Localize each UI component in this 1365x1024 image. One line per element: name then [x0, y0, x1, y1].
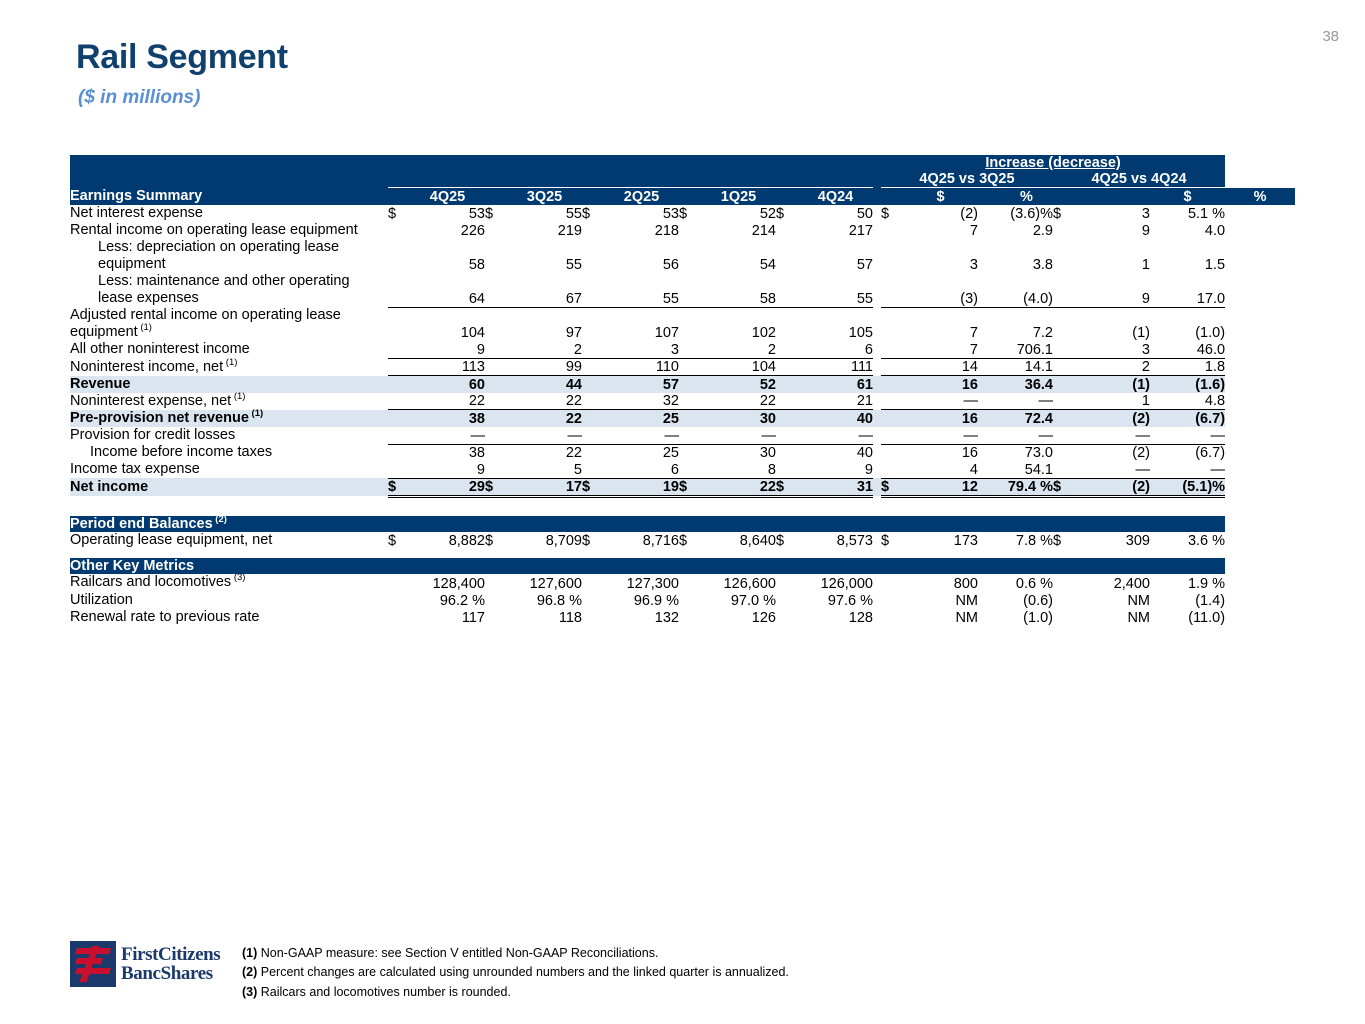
currency-symbol: [881, 461, 903, 478]
company-logo: FirstCitizens BancShares: [70, 941, 242, 987]
cell-change-percent: (5.1)%: [1150, 478, 1225, 496]
cell-value: 126,000: [798, 574, 873, 591]
currency-symbol: [776, 273, 798, 307]
cell-change-percent: 7.8 %: [978, 532, 1053, 549]
currency-symbol: [881, 393, 903, 410]
cell-change-dollar: —: [903, 427, 978, 444]
table-row: Operating lease equipment, net$8,882$8,7…: [70, 532, 1295, 549]
currency-symbol: [388, 393, 410, 410]
cell-change-dollar: NM: [1075, 592, 1150, 609]
currency-symbol: [679, 222, 701, 239]
row-label: Provision for credit losses: [70, 427, 388, 444]
cell-change-dollar: (2): [903, 205, 978, 222]
currency-symbol: [1053, 410, 1075, 427]
cell-change-dollar: 16: [903, 444, 978, 461]
column-gap: [873, 592, 881, 609]
currency-symbol: [485, 461, 507, 478]
currency-symbol: [881, 574, 903, 591]
currency-symbol: [679, 393, 701, 410]
row-label: Less: maintenance and other operating le…: [70, 273, 388, 307]
section-label: Period end Balances (2): [70, 516, 1225, 532]
cell-value: 96.9 %: [604, 592, 679, 609]
row-label: Less: depreciation on operating lease eq…: [70, 239, 388, 273]
row-label: Pre-provision net revenue (1): [70, 410, 388, 427]
section-spacer: [70, 496, 1295, 516]
column-gap: [873, 341, 881, 358]
currency-symbol: [679, 376, 701, 393]
currency-symbol: [582, 592, 604, 609]
cell-value: 52: [701, 376, 776, 393]
currency-symbol: $: [388, 532, 410, 549]
table-row: Railcars and locomotives (3)128,400127,6…: [70, 574, 1295, 591]
table-row: All other noninterest income923267706.13…: [70, 341, 1295, 358]
cell-change-percent: (6.7): [1150, 410, 1225, 427]
cell-value: —: [604, 427, 679, 444]
currency-symbol: [679, 239, 701, 273]
cell-value: 22: [507, 444, 582, 461]
currency-symbol: [881, 359, 903, 376]
cell-value: 99: [507, 359, 582, 376]
table-row: Net income$29$17$19$22$31$1279.4 %$(2)(5…: [70, 478, 1295, 496]
cell-value: 105: [798, 307, 873, 341]
table-row: Rental income on operating lease equipme…: [70, 222, 1295, 239]
rail-segment-table: Increase (decrease)4Q25 vs 3Q254Q25 vs 4…: [70, 155, 1295, 626]
cell-value: —: [507, 427, 582, 444]
row-label: Rental income on operating lease equipme…: [70, 222, 388, 239]
cell-value: 19: [604, 478, 679, 496]
cell-change-percent: (3.6)%: [978, 205, 1053, 222]
currency-symbol: $: [485, 478, 507, 496]
cell-value: 22: [507, 410, 582, 427]
cell-value: 21: [798, 393, 873, 410]
column-gap: [873, 359, 881, 376]
currency-symbol: [1053, 427, 1075, 444]
currency-symbol: $: [776, 532, 798, 549]
currency-symbol: [881, 592, 903, 609]
cell-change-dollar: 3: [903, 239, 978, 273]
cell-change-percent: 3.8: [978, 239, 1053, 273]
row-label: Noninterest income, net (1): [70, 359, 388, 376]
cell-change-percent: —: [978, 427, 1053, 444]
cell-value: 29: [410, 478, 485, 496]
column-gap: [873, 205, 881, 222]
column-header-1Q25: 1Q25: [701, 188, 776, 205]
cell-value: 96.2 %: [410, 592, 485, 609]
currency-symbol: [679, 574, 701, 591]
currency-symbol: [776, 239, 798, 273]
row-label: Income before income taxes: [70, 444, 388, 461]
currency-symbol: [582, 222, 604, 239]
cell-value: 226: [410, 222, 485, 239]
currency-symbol: [582, 410, 604, 427]
currency-symbol: [881, 341, 903, 358]
cell-value: 31: [798, 478, 873, 496]
currency-symbol: [1053, 239, 1075, 273]
cell-change-percent: 17.0: [1150, 273, 1225, 307]
cell-change-dollar: 3: [1075, 341, 1150, 358]
cell-change-percent: 4.0: [1150, 222, 1225, 239]
currency-symbol: $: [388, 478, 410, 496]
cell-value: 57: [604, 376, 679, 393]
currency-symbol: [881, 273, 903, 307]
cell-value: 30: [701, 410, 776, 427]
currency-symbol: $: [679, 478, 701, 496]
cell-value: 53: [604, 205, 679, 222]
period-end-balances-section: Period end Balances (2): [70, 516, 1295, 532]
column-gap: [873, 222, 881, 239]
currency-symbol: [776, 444, 798, 461]
cell-value: 52: [701, 205, 776, 222]
cell-change-percent: 2.9: [978, 222, 1053, 239]
currency-symbol: [485, 307, 507, 341]
cell-change-percent: 46.0: [1150, 341, 1225, 358]
cell-value: 61: [798, 376, 873, 393]
cell-change-dollar: 7: [903, 222, 978, 239]
cell-value: 8: [701, 461, 776, 478]
column-gap: [873, 188, 881, 205]
cell-value: 8,573: [798, 532, 873, 549]
currency-symbol: $: [881, 478, 903, 496]
header-rule: [881, 188, 903, 205]
header-rule: [1075, 188, 1150, 205]
cell-value: —: [701, 427, 776, 444]
currency-symbol: [485, 239, 507, 273]
cell-value: 9: [410, 461, 485, 478]
currency-symbol: [582, 341, 604, 358]
column-header-4Q24: 4Q24: [798, 188, 873, 205]
logo-line-1: FirstCitizens: [121, 945, 220, 964]
cell-change-percent: 1.5: [1150, 239, 1225, 273]
currency-symbol: [582, 427, 604, 444]
currency-symbol: [776, 427, 798, 444]
currency-symbol: [1053, 222, 1075, 239]
cell-value: 54: [701, 239, 776, 273]
currency-symbol: [485, 341, 507, 358]
currency-symbol: [881, 307, 903, 341]
currency-symbol: [679, 461, 701, 478]
column-header-change-2-dollar: $: [1150, 188, 1225, 205]
cell-value: 6: [798, 341, 873, 358]
change-group-2-header: 4Q25 vs 4Q24: [1053, 171, 1225, 188]
currency-symbol: [1053, 574, 1075, 591]
column-header-4Q25: 4Q25: [410, 188, 485, 205]
currency-symbol: [388, 239, 410, 273]
currency-symbol: [776, 341, 798, 358]
cell-value: 64: [410, 273, 485, 307]
cell-change-percent: 4.8: [1150, 393, 1225, 410]
cell-change-dollar: 309: [1075, 532, 1150, 549]
header-rule: [485, 188, 507, 205]
currency-symbol: [485, 222, 507, 239]
currency-symbol: [1053, 376, 1075, 393]
cell-change-percent: 14.1: [978, 359, 1053, 376]
cell-value: 9: [410, 341, 485, 358]
cell-change-dollar: (2): [1075, 444, 1150, 461]
header-rule: [776, 188, 798, 205]
column-gap: [873, 444, 881, 461]
page-subtitle: ($ in millions): [78, 87, 200, 109]
currency-symbol: [485, 592, 507, 609]
cell-change-dollar: (2): [1075, 410, 1150, 427]
currency-symbol: $: [388, 205, 410, 222]
table-row: Provision for credit losses—————————: [70, 427, 1295, 444]
cell-value: 22: [507, 393, 582, 410]
footnote-line: (3) Railcars and locomotives number is r…: [242, 983, 789, 1002]
cell-change-dollar: —: [903, 393, 978, 410]
cell-value: 60: [410, 376, 485, 393]
cell-change-dollar: 1: [1075, 393, 1150, 410]
currency-symbol: [1053, 359, 1075, 376]
currency-symbol: [1053, 609, 1075, 626]
currency-symbol: $: [582, 532, 604, 549]
currency-symbol: [1053, 592, 1075, 609]
cell-change-percent: 0.6 %: [978, 574, 1053, 591]
cell-change-percent: —: [1150, 461, 1225, 478]
currency-symbol: [388, 222, 410, 239]
cell-value: 219: [507, 222, 582, 239]
header-rule: [582, 188, 604, 205]
currency-symbol: [679, 427, 701, 444]
currency-symbol: [485, 359, 507, 376]
cell-value: 58: [410, 239, 485, 273]
row-label: Railcars and locomotives (3): [70, 574, 388, 591]
currency-symbol: [582, 393, 604, 410]
currency-symbol: [679, 307, 701, 341]
cell-value: 6: [604, 461, 679, 478]
column-header-2Q25: 2Q25: [604, 188, 679, 205]
currency-symbol: [485, 427, 507, 444]
currency-symbol: [1053, 273, 1075, 307]
cell-value: 113: [410, 359, 485, 376]
cell-change-dollar: 7: [903, 341, 978, 358]
cell-change-dollar: 2,400: [1075, 574, 1150, 591]
cell-change-dollar: 4: [903, 461, 978, 478]
currency-symbol: [485, 609, 507, 626]
cell-change-dollar: —: [1075, 427, 1150, 444]
table-row: Pre-provision net revenue (1)38222530401…: [70, 410, 1295, 427]
cell-value: —: [410, 427, 485, 444]
cell-change-dollar: (1): [1075, 376, 1150, 393]
section-spacer: [70, 549, 1295, 558]
cell-change-dollar: 12: [903, 478, 978, 496]
currency-symbol: $: [881, 532, 903, 549]
cell-value: 132: [604, 609, 679, 626]
page-title: Rail Segment: [76, 38, 288, 77]
cell-value: 104: [410, 307, 485, 341]
currency-symbol: [388, 574, 410, 591]
currency-symbol: [679, 359, 701, 376]
cell-value: 55: [798, 273, 873, 307]
table-row: Renewal rate to previous rate11711813212…: [70, 609, 1295, 626]
currency-symbol: [485, 376, 507, 393]
cell-value: 56: [604, 239, 679, 273]
currency-symbol: [485, 410, 507, 427]
cell-change-percent: 36.4: [978, 376, 1053, 393]
currency-symbol: [582, 461, 604, 478]
currency-symbol: [776, 307, 798, 341]
cell-value: 111: [798, 359, 873, 376]
currency-symbol: $: [485, 205, 507, 222]
earnings-summary-header: Earnings Summary: [70, 188, 388, 205]
row-label: Renewal rate to previous rate: [70, 609, 388, 626]
currency-symbol: [485, 273, 507, 307]
cell-change-percent: —: [1150, 427, 1225, 444]
footnotes: (1) Non-GAAP measure: see Section V enti…: [242, 941, 789, 1002]
first-citizens-logo-icon: [70, 941, 116, 987]
cell-change-percent: 72.4: [978, 410, 1053, 427]
footnote-line: (2) Percent changes are calculated using…: [242, 963, 789, 982]
cell-change-dollar: (3): [903, 273, 978, 307]
cell-change-percent: 1.9 %: [1150, 574, 1225, 591]
cell-value: 126: [701, 609, 776, 626]
column-gap: [873, 410, 881, 427]
column-header-change-1-percent: %: [978, 188, 1075, 205]
cell-value: 57: [798, 239, 873, 273]
currency-symbol: [582, 609, 604, 626]
cell-value: 128,400: [410, 574, 485, 591]
cell-value: 217: [798, 222, 873, 239]
cell-value: 97.6 %: [798, 592, 873, 609]
currency-symbol: [1053, 461, 1075, 478]
row-label: Operating lease equipment, net: [70, 532, 388, 549]
cell-value: 55: [507, 239, 582, 273]
header-blank-2: [70, 171, 881, 188]
cell-value: 50: [798, 205, 873, 222]
cell-value: 218: [604, 222, 679, 239]
currency-symbol: [388, 341, 410, 358]
currency-symbol: [679, 341, 701, 358]
currency-symbol: [679, 592, 701, 609]
header-rule: [388, 188, 410, 205]
cell-value: 25: [604, 410, 679, 427]
column-gap: [873, 239, 881, 273]
currency-symbol: $: [776, 205, 798, 222]
column-gap: [873, 307, 881, 341]
cell-change-dollar: 7: [903, 307, 978, 341]
currency-symbol: $: [485, 532, 507, 549]
cell-value: 96.8 %: [507, 592, 582, 609]
currency-symbol: [388, 461, 410, 478]
currency-symbol: [1053, 444, 1075, 461]
cell-value: 22: [701, 478, 776, 496]
cell-value: 107: [604, 307, 679, 341]
cell-change-dollar: 173: [903, 532, 978, 549]
cell-value: 102: [701, 307, 776, 341]
cell-value: 55: [604, 273, 679, 307]
currency-symbol: [679, 273, 701, 307]
cell-change-percent: 54.1: [978, 461, 1053, 478]
cell-value: 8,716: [604, 532, 679, 549]
currency-symbol: [1053, 393, 1075, 410]
currency-symbol: [582, 376, 604, 393]
cell-change-percent: (1.6): [1150, 376, 1225, 393]
cell-change-dollar: NM: [1075, 609, 1150, 626]
cell-change-percent: 1.8: [1150, 359, 1225, 376]
table-row: Noninterest income, net (1)1139911010411…: [70, 359, 1295, 376]
table-row: Income tax expense95689454.1——: [70, 461, 1295, 478]
logo-line-2: BancShares: [121, 964, 220, 983]
cell-value: 8,709: [507, 532, 582, 549]
column-header-3Q25: 3Q25: [507, 188, 582, 205]
currency-symbol: [485, 574, 507, 591]
cell-value: 110: [604, 359, 679, 376]
currency-symbol: $: [1053, 205, 1075, 222]
cell-value: 104: [701, 359, 776, 376]
header-rule: [679, 188, 701, 205]
currency-symbol: [776, 393, 798, 410]
cell-change-dollar: NM: [903, 609, 978, 626]
currency-symbol: [881, 410, 903, 427]
cell-change-percent: (1.0): [978, 609, 1053, 626]
cell-change-percent: (11.0): [1150, 609, 1225, 626]
row-label: Utilization: [70, 592, 388, 609]
currency-symbol: [776, 609, 798, 626]
currency-symbol: [776, 222, 798, 239]
cell-change-dollar: 14: [903, 359, 978, 376]
cell-change-dollar: NM: [903, 592, 978, 609]
column-gap: [873, 393, 881, 410]
cell-value: 53: [410, 205, 485, 222]
currency-symbol: [388, 376, 410, 393]
cell-value: 17: [507, 478, 582, 496]
currency-symbol: $: [1053, 478, 1075, 496]
footnote-line: (1) Non-GAAP measure: see Section V enti…: [242, 944, 789, 963]
cell-change-dollar: 9: [1075, 222, 1150, 239]
cell-change-percent: (1.0): [1150, 307, 1225, 341]
table-row: Adjusted rental income on operating leas…: [70, 307, 1295, 341]
cell-value: 58: [701, 273, 776, 307]
currency-symbol: [881, 609, 903, 626]
cell-change-percent: (4.0): [978, 273, 1053, 307]
currency-symbol: [1053, 307, 1075, 341]
slide-footer: FirstCitizens BancShares (1) Non-GAAP me…: [70, 941, 789, 1002]
row-label: Revenue: [70, 376, 388, 393]
cell-value: 32: [604, 393, 679, 410]
header-blank: [70, 155, 881, 171]
table-row: Net interest expense$53$55$53$52$50$(2)(…: [70, 205, 1295, 222]
currency-symbol: $: [582, 205, 604, 222]
cell-change-dollar: 800: [903, 574, 978, 591]
cell-value: 5: [507, 461, 582, 478]
table-row: Utilization96.2 %96.8 %96.9 %97.0 %97.6 …: [70, 592, 1295, 609]
cell-change-dollar: 2: [1075, 359, 1150, 376]
financial-table-container: Increase (decrease)4Q25 vs 3Q254Q25 vs 4…: [70, 155, 1295, 626]
cell-value: 2: [701, 341, 776, 358]
currency-symbol: $: [776, 478, 798, 496]
cell-change-dollar: 1: [1075, 239, 1150, 273]
currency-symbol: [582, 239, 604, 273]
table-row: Less: maintenance and other operating le…: [70, 273, 1295, 307]
cell-change-dollar: 9: [1075, 273, 1150, 307]
cell-change-dollar: 16: [903, 410, 978, 427]
cell-value: 97.0 %: [701, 592, 776, 609]
cell-change-percent: 7.2: [978, 307, 1053, 341]
cell-value: 3: [604, 341, 679, 358]
currency-symbol: [388, 592, 410, 609]
column-gap: [873, 376, 881, 393]
table-row: Income before income taxes38222530401673…: [70, 444, 1295, 461]
cell-value: 30: [701, 444, 776, 461]
currency-symbol: [776, 376, 798, 393]
currency-symbol: [881, 427, 903, 444]
cell-change-percent: (6.7): [1150, 444, 1225, 461]
cell-change-dollar: 3: [1075, 205, 1150, 222]
increase-decrease-header: Increase (decrease): [881, 155, 1225, 171]
currency-symbol: [582, 307, 604, 341]
currency-symbol: [881, 222, 903, 239]
currency-symbol: [485, 444, 507, 461]
currency-symbol: [485, 393, 507, 410]
